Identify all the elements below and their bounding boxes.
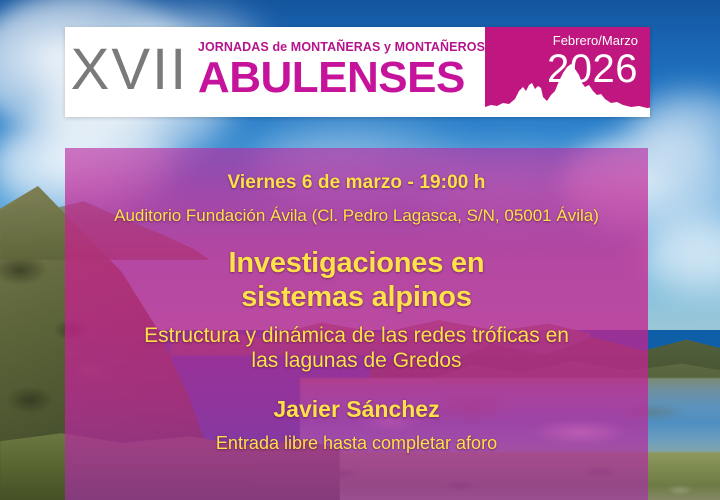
admission-note: Entrada libre hasta completar aforo [216,433,497,455]
event-title-line-2: sistemas alpinos [229,280,485,314]
speaker-name: Javier Sánchez [273,396,439,424]
event-date-line: Viernes 6 de marzo - 19:00 h [227,172,485,195]
event-title-line-1: Investigaciones en [229,246,485,280]
header-wordmark-group: JORNADAS de MONTAÑERAS y MONTAÑEROS ABUL… [194,27,485,117]
event-subtitle-line-1: Estructura y dinámica de las redes trófi… [144,323,569,349]
header-band: XVII JORNADAS de MONTAÑERAS y MONTAÑEROS… [65,27,650,117]
event-text-block: Viernes 6 de marzo - 19:00 h Auditorio F… [65,148,648,500]
header-wordmark: ABULENSES [198,56,485,101]
event-venue-line: Auditorio Fundación Ávila (Cl. Pedro Lag… [114,206,599,226]
event-subtitle: Estructura y dinámica de las redes trófi… [144,323,569,374]
header-date-block: Febrero/Marzo 2026 [485,27,650,117]
poster-canvas: XVII JORNADAS de MONTAÑERAS y MONTAÑEROS… [0,0,720,500]
event-subtitle-line-2: las lagunas de Gredos [144,348,569,374]
header-year: 2026 [547,49,638,89]
event-title: Investigaciones en sistemas alpinos [229,246,485,314]
edition-roman-numeral: XVII [65,27,194,117]
header-month-range: Febrero/Marzo [553,34,638,47]
